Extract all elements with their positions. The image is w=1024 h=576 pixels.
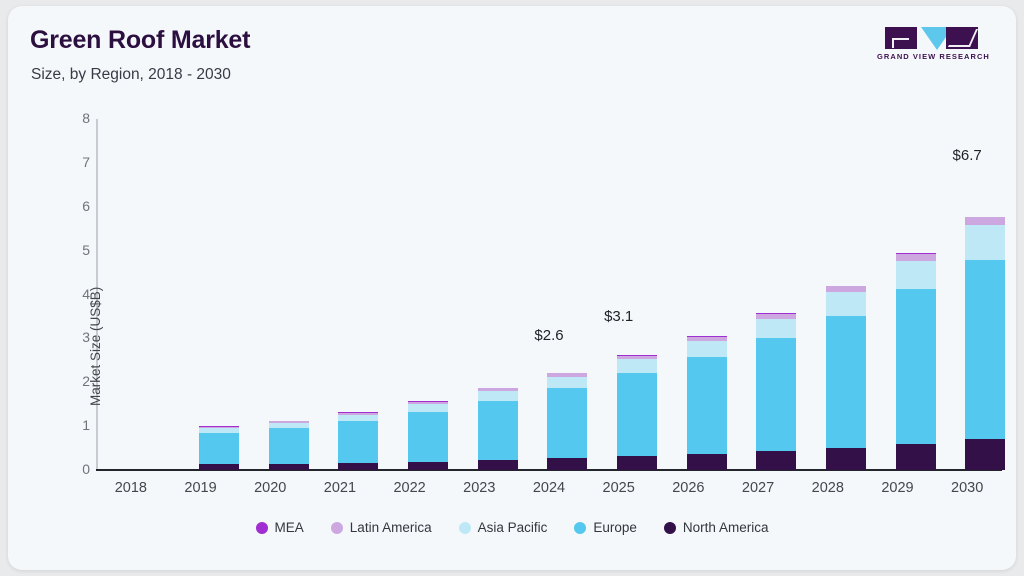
bar-segment-europe[interactable] — [965, 260, 1005, 439]
bar-segment-asia-pacific[interactable] — [756, 319, 796, 338]
page-subtitle: Size, by Region, 2018 - 2030 — [31, 66, 231, 84]
logo-left-square-icon — [885, 27, 917, 49]
legend-swatch-icon — [256, 522, 268, 534]
bar-segment-north-america[interactable] — [687, 454, 727, 470]
bar-segment-asia-pacific[interactable] — [687, 341, 727, 357]
x-axis-tick: 2021 — [300, 480, 380, 496]
bar-segment-latin-america[interactable] — [896, 254, 936, 261]
y-axis-tick: 2 — [34, 373, 90, 389]
bar-segment-europe[interactable] — [408, 412, 448, 462]
bar-segment-asia-pacific[interactable] — [617, 359, 657, 372]
data-label-2025: $3.1 — [579, 308, 659, 325]
x-axis-tick: 2019 — [161, 480, 241, 496]
bar-segment-europe[interactable] — [756, 338, 796, 451]
bar-segment-latin-america[interactable] — [965, 217, 1005, 225]
bar-segment-europe[interactable] — [617, 373, 657, 456]
bar-segment-north-america[interactable] — [269, 464, 309, 470]
bar-segment-asia-pacific[interactable] — [965, 225, 1005, 260]
bar-2029[interactable] — [965, 217, 1005, 470]
logo-wordmark: GRAND VIEW RESEARCH — [877, 52, 989, 61]
bar-segment-europe[interactable] — [547, 388, 587, 458]
legend-swatch-icon — [459, 522, 471, 534]
x-axis-tick: 2027 — [718, 480, 798, 496]
x-axis-tick: 2020 — [230, 480, 310, 496]
bar-2020[interactable] — [338, 412, 378, 470]
y-axis-tick: 5 — [34, 242, 90, 258]
legend-item-europe[interactable]: Europe — [574, 520, 637, 535]
bar-segment-north-america[interactable] — [547, 458, 587, 470]
data-label-2024: $2.6 — [509, 327, 589, 344]
bar-2025[interactable] — [687, 336, 727, 470]
bar-segment-north-america[interactable] — [199, 464, 239, 470]
legend-swatch-icon — [331, 522, 343, 534]
bar-2019[interactable] — [269, 421, 309, 470]
bar-2022[interactable] — [478, 388, 518, 470]
x-axis-tick: 2030 — [927, 480, 1007, 496]
bar-segment-north-america[interactable] — [826, 448, 866, 470]
bar-2023[interactable] — [547, 373, 587, 470]
legend-label: Latin America — [350, 520, 432, 535]
bar-segment-north-america[interactable] — [338, 463, 378, 470]
x-axis-tick: 2025 — [579, 480, 659, 496]
bar-segment-asia-pacific[interactable] — [547, 377, 587, 388]
y-axis-tick: 3 — [34, 329, 90, 345]
page-title: Green Roof Market — [30, 26, 250, 55]
logo-marks — [877, 27, 989, 49]
bar-2026[interactable] — [756, 313, 796, 470]
y-axis-tick: 8 — [34, 110, 90, 126]
data-label-2030: $6.7 — [927, 147, 1007, 164]
bar-segment-europe[interactable] — [269, 428, 309, 464]
chart-card: Green Roof Market Size, by Region, 2018 … — [8, 6, 1016, 570]
x-axis-tick: 2022 — [370, 480, 450, 496]
plot-area: Market Size (US$B) — [96, 118, 1002, 470]
legend-item-mea[interactable]: MEA — [256, 520, 304, 535]
chart-legend: MEALatin AmericaAsia PacificEuropeNorth … — [8, 520, 1016, 535]
bar-segment-asia-pacific[interactable] — [478, 391, 518, 401]
bar-segment-europe[interactable] — [826, 316, 866, 448]
bar-2024[interactable] — [617, 355, 657, 470]
x-axis-tick: 2028 — [788, 480, 868, 496]
bar-segment-north-america[interactable] — [408, 462, 448, 470]
bar-segment-europe[interactable] — [478, 401, 518, 460]
bar-2028[interactable] — [896, 253, 936, 470]
bar-segment-europe[interactable] — [199, 433, 239, 465]
logo-right-square-icon — [946, 27, 978, 49]
y-axis-tick: 0 — [34, 461, 90, 477]
x-axis-tick: 2029 — [857, 480, 937, 496]
grand-view-research-logo: GRAND VIEW RESEARCH — [877, 27, 989, 65]
bar-segment-north-america[interactable] — [617, 456, 657, 470]
bar-segment-europe[interactable] — [687, 357, 727, 454]
bar-2021[interactable] — [408, 401, 448, 470]
legend-item-asia-pacific[interactable]: Asia Pacific — [459, 520, 548, 535]
x-axis-tick: 2026 — [648, 480, 728, 496]
legend-label: Asia Pacific — [478, 520, 548, 535]
bar-segment-north-america[interactable] — [896, 444, 936, 470]
bar-segment-asia-pacific[interactable] — [896, 261, 936, 289]
x-axis-tick: 2023 — [439, 480, 519, 496]
bar-2018[interactable] — [199, 426, 239, 470]
y-axis-tick: 6 — [34, 198, 90, 214]
bar-2027[interactable] — [826, 286, 866, 470]
x-axis-tick: 2024 — [509, 480, 589, 496]
legend-label: MEA — [275, 520, 304, 535]
x-axis-tick: 2018 — [91, 480, 171, 496]
legend-item-north-america[interactable]: North America — [664, 520, 769, 535]
bar-segment-asia-pacific[interactable] — [826, 292, 866, 315]
bar-segment-north-america[interactable] — [965, 439, 1005, 470]
bar-segment-north-america[interactable] — [478, 460, 518, 470]
bar-segment-asia-pacific[interactable] — [408, 404, 448, 412]
legend-label: North America — [683, 520, 769, 535]
bar-segment-europe[interactable] — [338, 421, 378, 463]
y-axis-tick: 4 — [34, 286, 90, 302]
legend-swatch-icon — [664, 522, 676, 534]
y-axis-tick: 7 — [34, 154, 90, 170]
y-axis-label: Market Size (US$B) — [88, 287, 103, 406]
bar-segment-europe[interactable] — [896, 289, 936, 444]
bar-segment-north-america[interactable] — [756, 451, 796, 470]
legend-swatch-icon — [574, 522, 586, 534]
legend-label: Europe — [593, 520, 637, 535]
legend-item-latin-america[interactable]: Latin America — [331, 520, 432, 535]
y-axis-tick: 1 — [34, 417, 90, 433]
